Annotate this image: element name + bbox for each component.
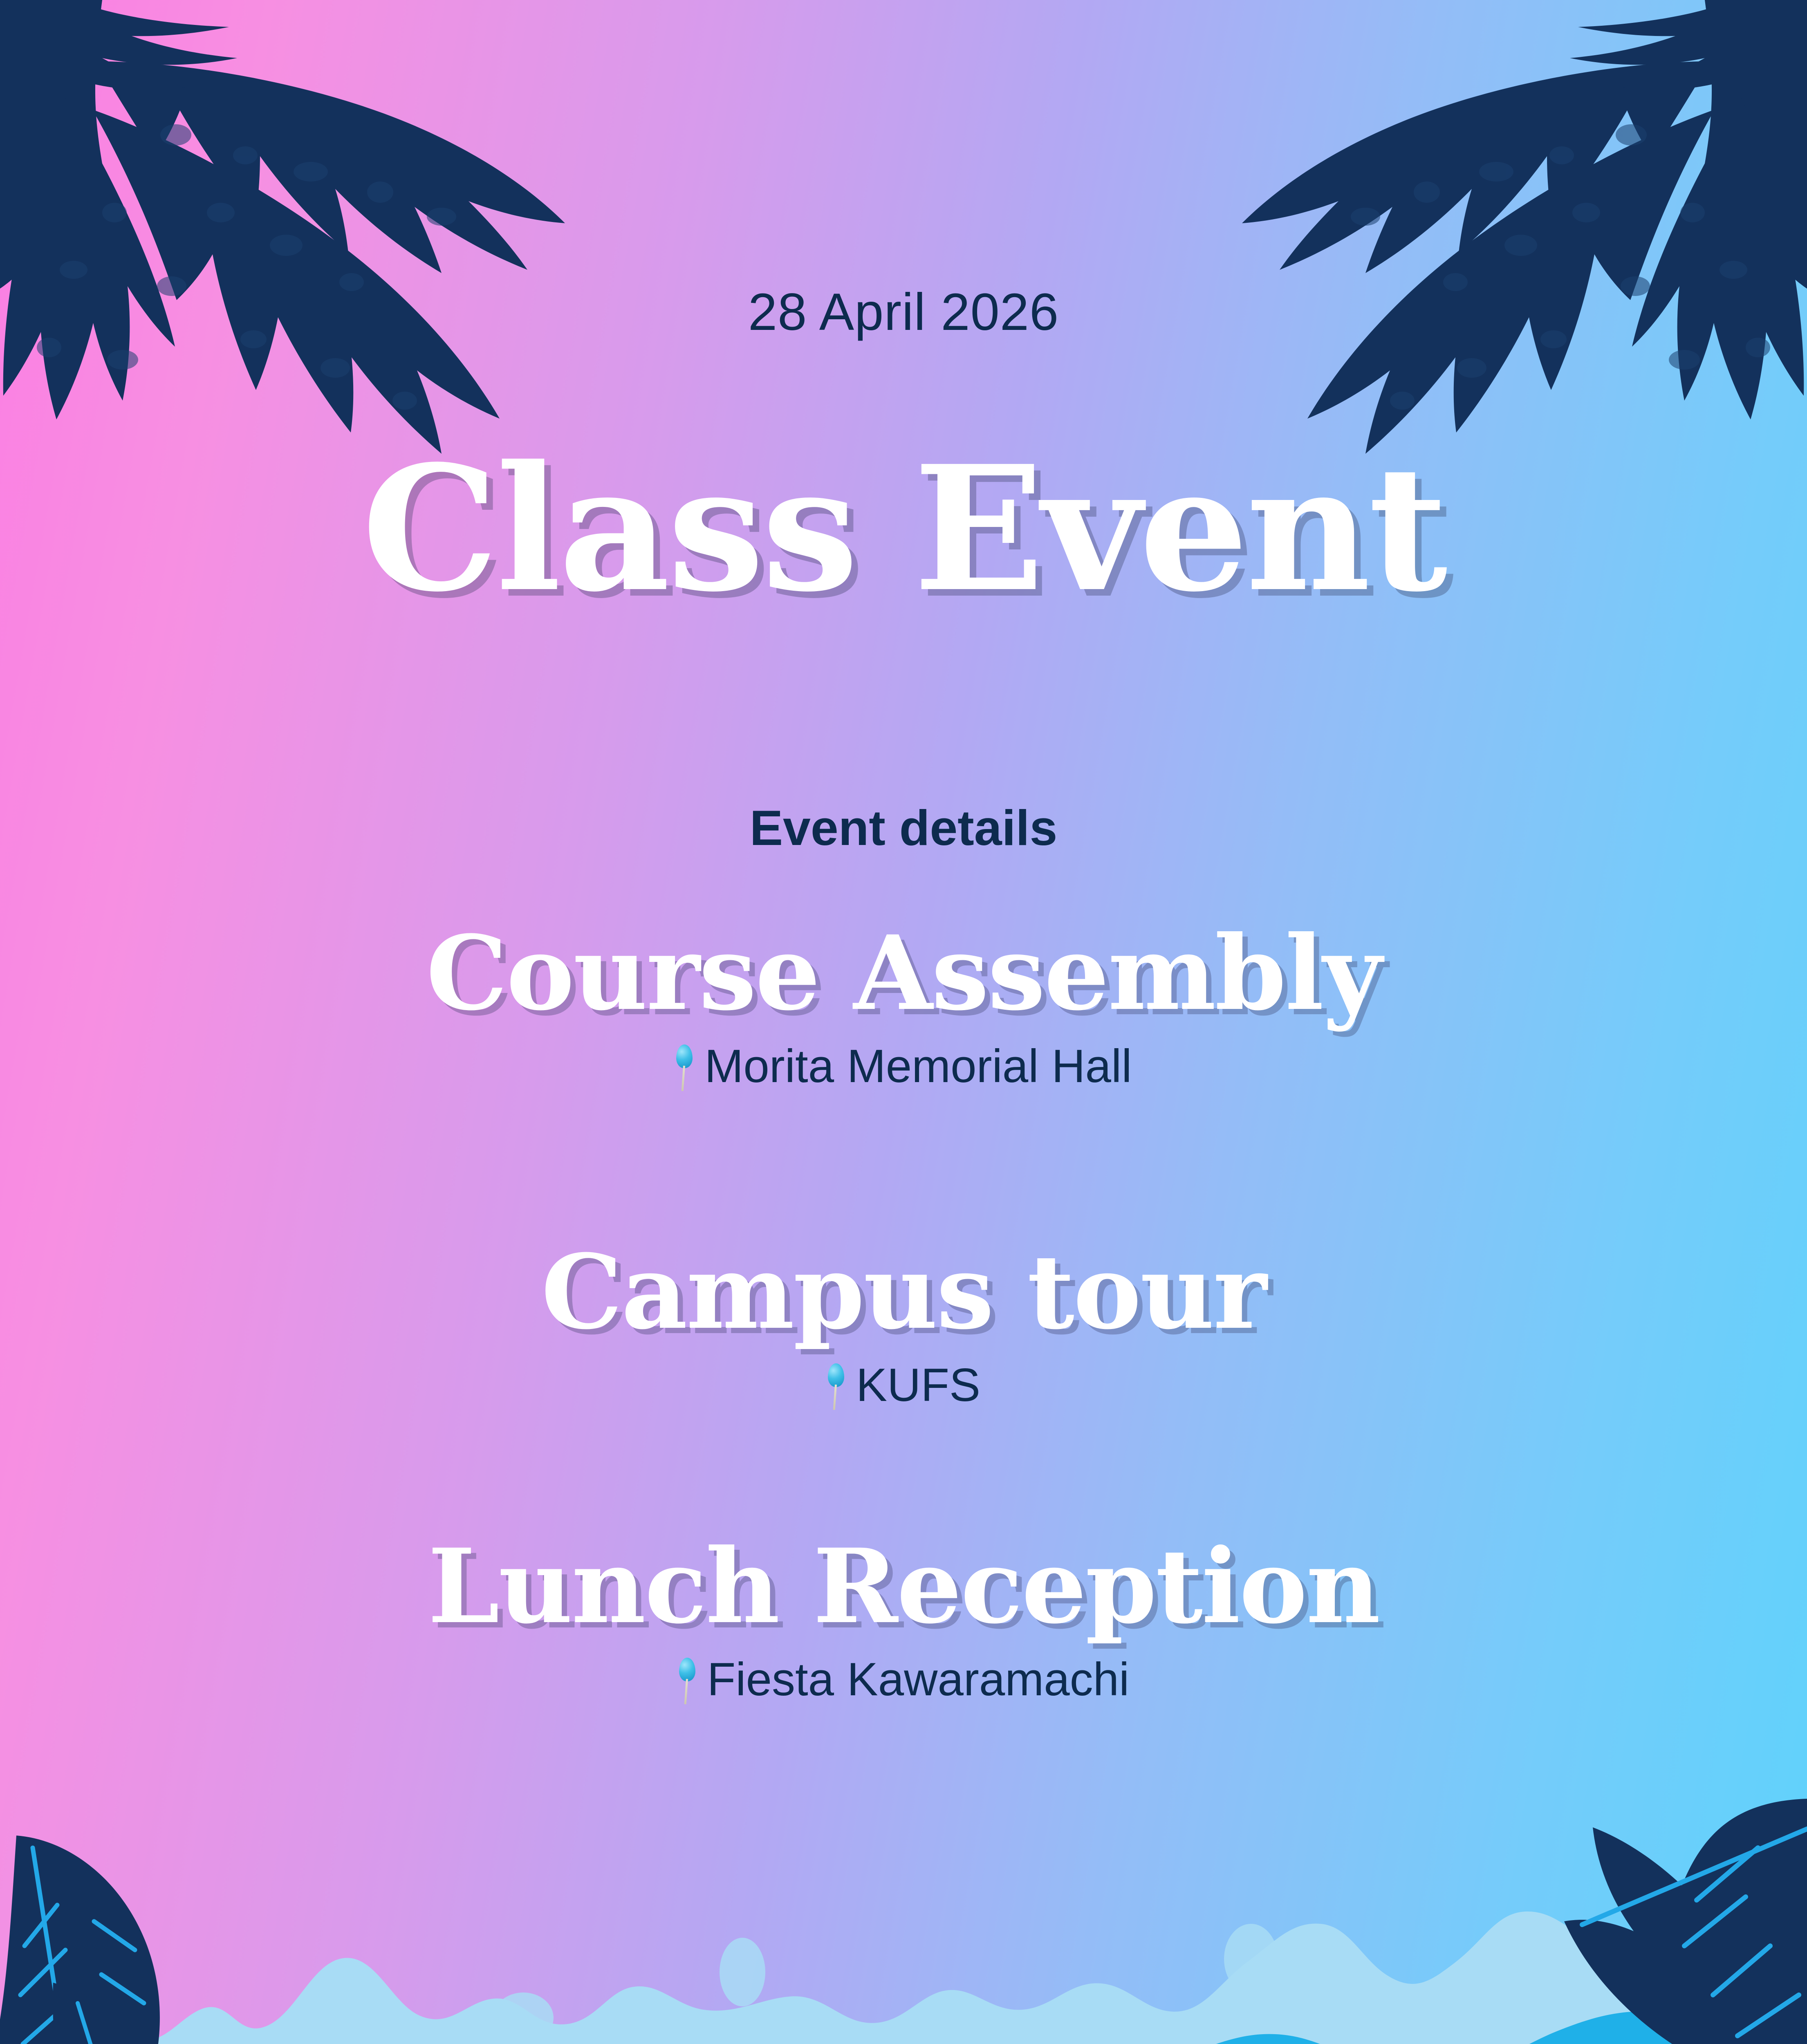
event-location-text: Fiesta Kawaramachi	[707, 1653, 1130, 1706]
event-location-text: KUFS	[856, 1358, 980, 1412]
location-pin-icon	[827, 1363, 845, 1412]
event-name: Campus tour	[0, 1241, 1807, 1343]
palm-tree-top-right	[1242, 0, 1807, 454]
page-title: Class Event	[0, 444, 1807, 615]
event-item: Lunch Reception Fiesta Kawaramachi	[0, 1535, 1807, 1706]
event-location-row: Morita Memorial Hall	[0, 1040, 1807, 1093]
poster-canvas: 28 April 2026 Class Event Event details …	[0, 0, 1807, 2044]
event-date: 28 April 2026	[0, 282, 1807, 342]
palm-tree-top-left	[0, 0, 565, 454]
section-label: Event details	[0, 799, 1807, 856]
location-pin-icon	[678, 1658, 697, 1707]
event-location-row: KUFS	[0, 1358, 1807, 1412]
event-name: Lunch Reception	[0, 1535, 1807, 1637]
location-pin-icon	[675, 1044, 694, 1094]
event-location-row: Fiesta Kawaramachi	[0, 1653, 1807, 1706]
event-location-text: Morita Memorial Hall	[704, 1040, 1132, 1093]
event-item: Course Assembly Morita Memorial Hall	[0, 922, 1807, 1093]
ocean-wave-light	[0, 1912, 1807, 2044]
event-name: Course Assembly	[0, 922, 1807, 1024]
event-item: Campus tour KUFS	[0, 1241, 1807, 1412]
